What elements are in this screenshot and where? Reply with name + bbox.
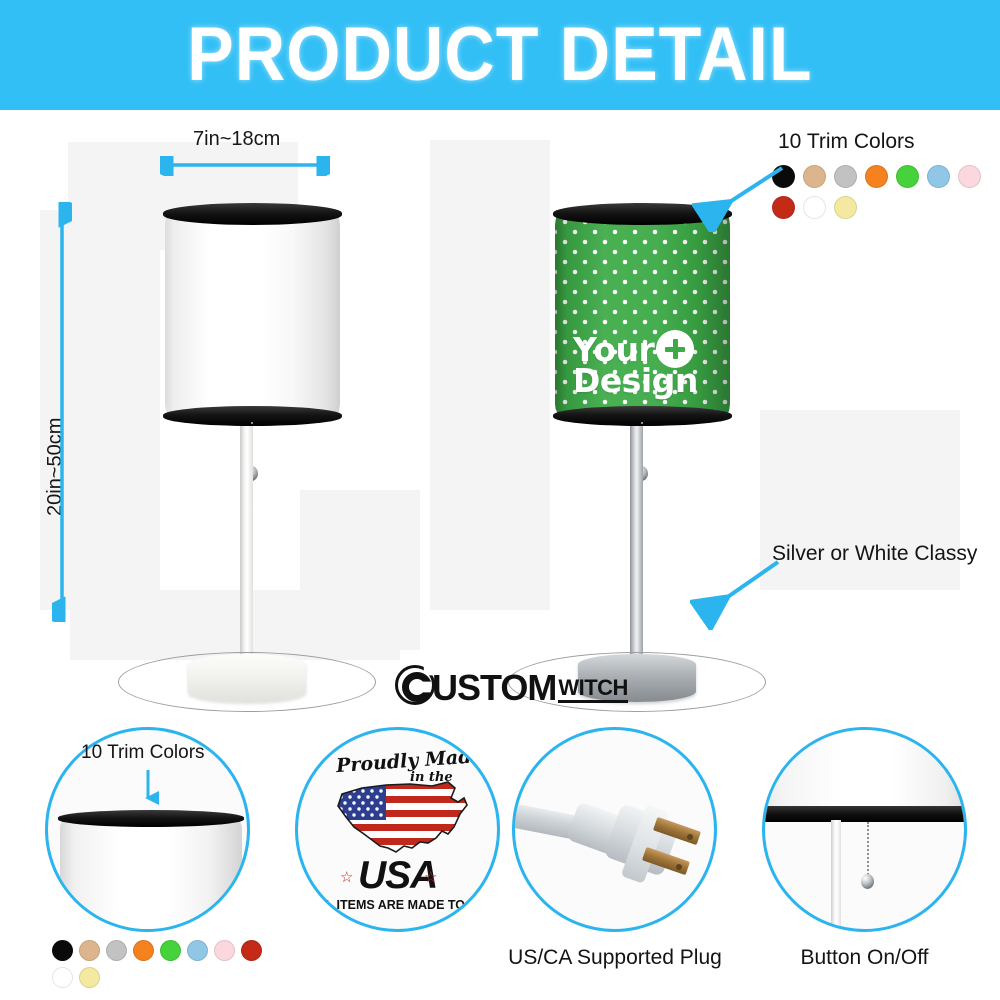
base-callout-arrow bbox=[690, 550, 790, 630]
feature-switch bbox=[762, 727, 967, 932]
trim-swatch-light-blue[interactable] bbox=[927, 165, 950, 188]
trim-swatch-gray[interactable] bbox=[106, 940, 127, 961]
trim-swatch-black[interactable] bbox=[52, 940, 73, 961]
plug-prong-hole-bottom bbox=[676, 864, 682, 870]
lamp-white bbox=[120, 190, 410, 660]
logo-main-text: USTOM bbox=[432, 671, 556, 705]
height-dimension-arrow bbox=[52, 202, 72, 622]
trim-swatch-orange[interactable] bbox=[133, 940, 154, 961]
design-line-2: Design bbox=[573, 365, 698, 396]
header-banner: PRODUCT DETAIL bbox=[0, 0, 1000, 110]
trim-swatch-tan[interactable] bbox=[79, 940, 100, 961]
star-left-icon: ☆ bbox=[340, 868, 353, 886]
cord-ring bbox=[118, 652, 376, 712]
chain-ball bbox=[861, 874, 874, 889]
brand-logo: USTOM WITCH bbox=[395, 665, 628, 705]
trim-colors-label-top: 10 Trim Colors bbox=[778, 130, 915, 154]
base-finish-label: Silver or White Classy bbox=[772, 542, 977, 566]
mini-shade-bottom bbox=[762, 727, 967, 812]
mini-pole bbox=[831, 820, 841, 932]
trim-swatch-green[interactable] bbox=[160, 940, 181, 961]
trim-color-swatches-top bbox=[772, 165, 1000, 219]
logo-underline bbox=[558, 700, 628, 703]
width-dimension-arrow bbox=[160, 156, 330, 176]
trim-swatch-tan[interactable] bbox=[803, 165, 826, 188]
trim-swatch-light-blue[interactable] bbox=[187, 940, 208, 961]
product-stage: 7in~18cm 20in~50cm bbox=[0, 110, 1000, 710]
star-right-icon: ☆ bbox=[424, 868, 437, 886]
lamp-shade-white bbox=[165, 212, 340, 417]
chain-cord bbox=[867, 822, 869, 878]
trim-swatch-white[interactable] bbox=[803, 196, 826, 219]
trim-swatch-red[interactable] bbox=[241, 940, 262, 961]
trim-swatch-orange[interactable] bbox=[865, 165, 888, 188]
trim-swatch-gray[interactable] bbox=[834, 165, 857, 188]
logo-c-icon bbox=[395, 665, 435, 705]
trim-swatch-pale-yellow[interactable] bbox=[834, 196, 857, 219]
logo-sub-wrap: WITCH bbox=[558, 678, 628, 703]
trim-color-swatches-bottom bbox=[52, 940, 287, 988]
trim-colors-label-bottom: 10 Trim Colors bbox=[81, 742, 205, 764]
mini-shade-trim-band bbox=[58, 810, 244, 827]
trim-callout-arrow-top bbox=[692, 162, 792, 232]
lamp-pole bbox=[240, 426, 253, 676]
usa-tagline: ALL ITEMS ARE MADE TO ORDER! bbox=[309, 898, 500, 912]
feature-made-in-usa: Proudly Made in the bbox=[295, 727, 500, 932]
mini-shade-trim bbox=[60, 818, 242, 932]
lamp-shade-custom: Your Design bbox=[555, 212, 730, 417]
feature-caption-switch: Button On/Off bbox=[752, 946, 977, 970]
mini-pull-chain[interactable] bbox=[861, 822, 875, 892]
trim-swatch-pink[interactable] bbox=[958, 165, 981, 188]
usa-map-flag-icon bbox=[324, 772, 479, 867]
plus-icon bbox=[656, 330, 694, 368]
trim-swatch-white[interactable] bbox=[52, 967, 73, 988]
plug-prong-hole-top bbox=[687, 834, 693, 840]
trim-swatch-green[interactable] bbox=[896, 165, 919, 188]
feature-plug bbox=[512, 727, 717, 932]
shade-surface bbox=[165, 212, 340, 417]
trim-swatch-pale-yellow[interactable] bbox=[79, 967, 100, 988]
shade-trim-top bbox=[163, 203, 342, 225]
trim-callout-arrow-bottom bbox=[139, 768, 159, 810]
page-title: PRODUCT DETAIL bbox=[187, 17, 812, 93]
width-dimension-label: 7in~18cm bbox=[193, 128, 280, 151]
logo-sub-text: WITCH bbox=[558, 678, 628, 698]
trim-swatch-pink[interactable] bbox=[214, 940, 235, 961]
lamp-pole bbox=[630, 426, 643, 676]
mini-trim-band bbox=[762, 806, 967, 822]
feature-caption-plug: US/CA Supported Plug bbox=[500, 946, 730, 970]
